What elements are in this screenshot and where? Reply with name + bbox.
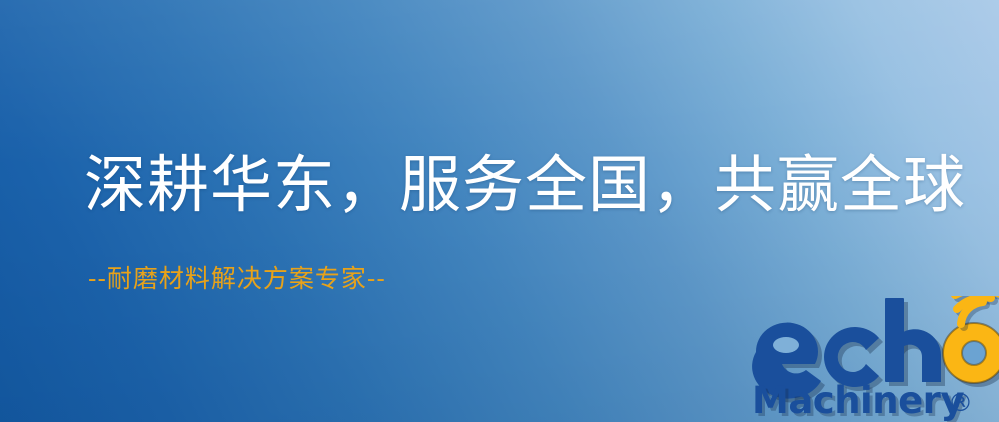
letter-e-counter [773, 337, 799, 353]
logo-tagline: Machinery [752, 379, 964, 422]
echo-machinery-logo[interactable]: Machinery Machinery ® [752, 296, 999, 422]
hero-banner: 深耕华东，服务全国，共赢全球 --耐磨材料解决方案专家-- [0, 0, 999, 422]
registered-trademark-icon: ® [948, 388, 973, 417]
page-title: 深耕华东，服务全国，共赢全球 [84, 154, 966, 216]
logo-artwork: Machinery Machinery ® [752, 296, 999, 422]
logo-letter-o [943, 323, 999, 383]
letter-o-counter [962, 341, 986, 365]
banner-subtitle: --耐磨材料解决方案专家-- [88, 266, 386, 291]
